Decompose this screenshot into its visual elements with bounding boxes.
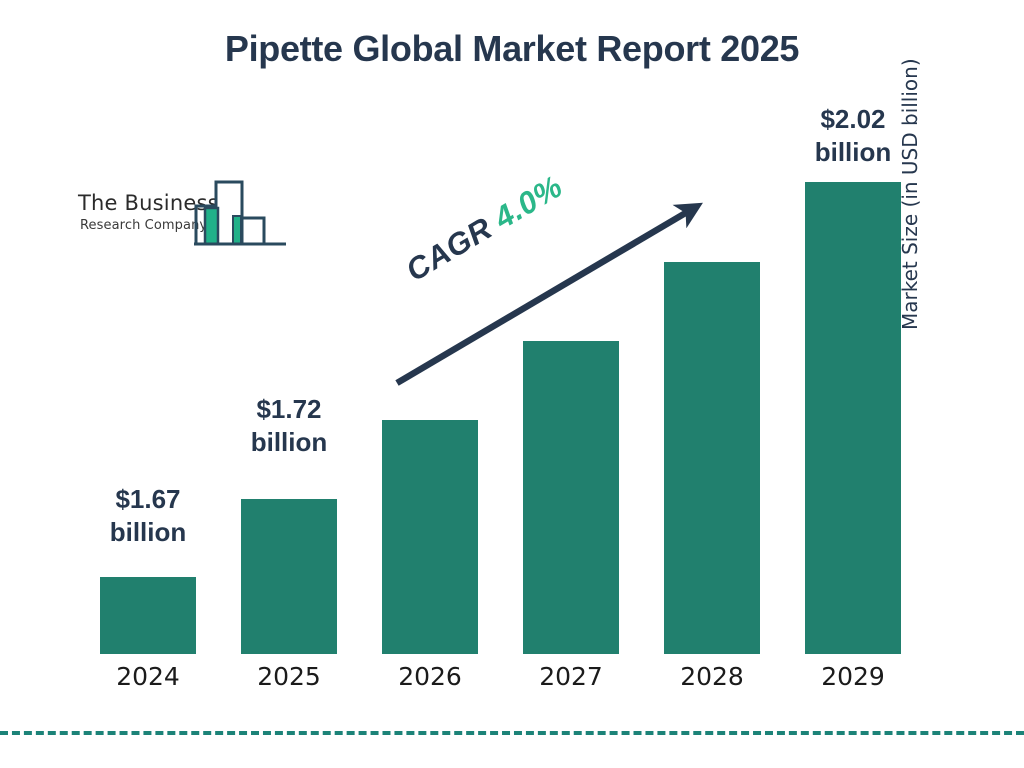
footer-divider: [0, 731, 1024, 735]
cagr-prefix: CAGR: [400, 210, 498, 288]
chart-canvas: Pipette Global Market Report 2025 The Bu…: [0, 0, 1024, 768]
data-label-2024-value: $1.67: [82, 483, 214, 516]
data-label-2025-value: $1.72: [223, 393, 355, 426]
bar-2024: [100, 577, 196, 654]
bar-2028: [664, 262, 760, 654]
bar-2025: [241, 499, 337, 654]
plot-area: 2024 2025 2026 2027 2028 2029 $1.67 bill…: [0, 0, 1024, 768]
bar-2029: [805, 182, 901, 654]
x-tick-label-2028: 2028: [664, 662, 760, 691]
data-label-2025: $1.72 billion: [223, 393, 355, 460]
bar-2026: [382, 420, 478, 654]
x-tick-label-2029: 2029: [805, 662, 901, 691]
x-tick-label-2025: 2025: [241, 662, 337, 691]
y-axis-title: Market Size (in USD billion): [898, 10, 922, 330]
cagr-annotation: CAGR 4.0%: [400, 169, 569, 289]
x-tick-label-2024: 2024: [100, 662, 196, 691]
bar-2027: [523, 341, 619, 654]
data-label-2025-unit: billion: [223, 426, 355, 459]
data-label-2024: $1.67 billion: [82, 483, 214, 550]
x-tick-label-2027: 2027: [523, 662, 619, 691]
x-tick-label-2026: 2026: [382, 662, 478, 691]
cagr-value: 4.0%: [488, 169, 568, 236]
data-label-2024-unit: billion: [82, 516, 214, 549]
